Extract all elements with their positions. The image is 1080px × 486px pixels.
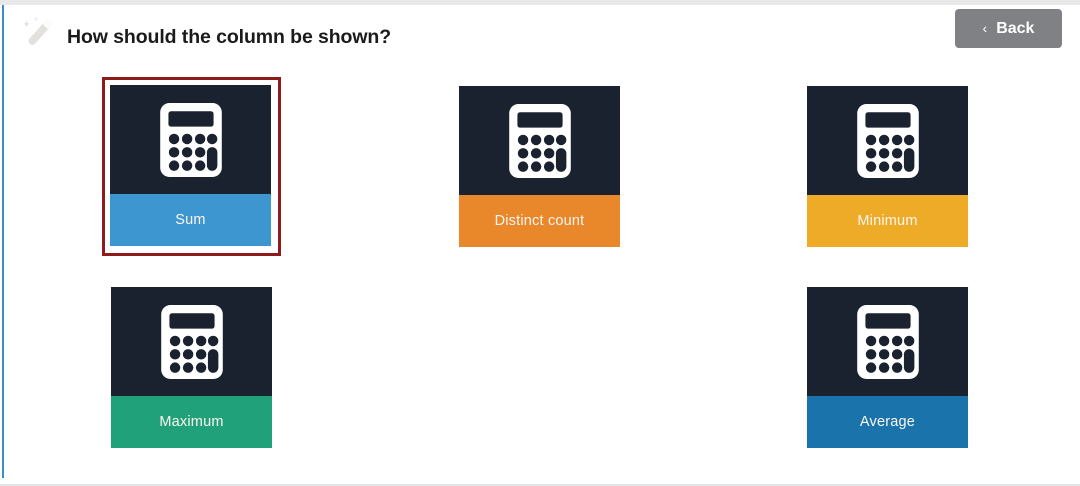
header: How should the column be shown? ‹ Back: [0, 5, 1080, 65]
aggregation-option-grid: Count: [111, 86, 969, 448]
left-accent-bar: [2, 5, 4, 478]
option-tile-wrapper-distinct-count: Distinct count: [459, 86, 620, 247]
option-tile-maximum[interactable]: Maximum: [111, 287, 272, 448]
back-button-label: Back: [996, 20, 1034, 38]
option-tile-minimum[interactable]: Minimum: [807, 86, 968, 247]
option-label-distinct-count: Distinct count: [459, 195, 620, 247]
calculator-icon: [111, 287, 272, 397]
calculator-icon: [807, 86, 968, 196]
option-tile-wrapper-average: Average: [807, 287, 968, 448]
option-label-maximum: Maximum: [111, 396, 272, 448]
back-button[interactable]: ‹ Back: [955, 9, 1062, 48]
option-tile-average[interactable]: Average: [807, 287, 968, 448]
magic-wand-icon: [14, 11, 60, 57]
option-tile-wrapper-sum: Sum: [102, 77, 281, 256]
chevron-left-icon: ‹: [983, 21, 988, 35]
option-label-average: Average: [807, 396, 968, 448]
option-label-sum: Sum: [110, 194, 271, 246]
calculator-icon: [807, 287, 968, 397]
aggregation-chooser-screen: How should the column be shown? ‹ Back: [0, 0, 1080, 486]
option-label-minimum: Minimum: [807, 195, 968, 247]
option-tile-wrapper-maximum: Maximum: [111, 287, 272, 448]
option-tile-wrapper-minimum: Minimum: [807, 86, 968, 247]
option-tile-sum[interactable]: Sum: [110, 85, 271, 246]
calculator-icon: [110, 85, 271, 195]
calculator-icon: [459, 86, 620, 196]
page-title: How should the column be shown?: [67, 26, 391, 49]
option-tile-distinct-count[interactable]: Distinct count: [459, 86, 620, 247]
